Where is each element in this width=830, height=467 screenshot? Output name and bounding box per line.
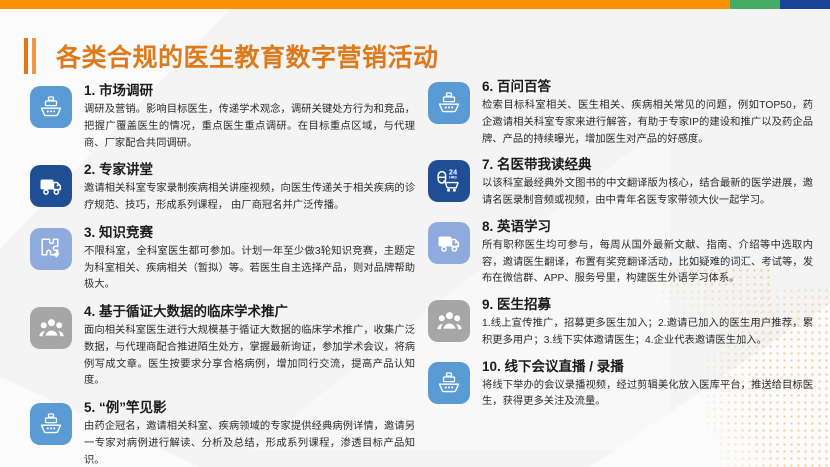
activity-item-title: 2. 专家讲堂 — [84, 161, 415, 179]
activity-item[interactable]: 2. 专家讲堂邀请相关科室专家录制疾病相关讲座视频，向医生传递关于相关疾病的诊疗… — [30, 161, 415, 215]
pharmacy-24hrs-icon: 24 HRS — [428, 160, 470, 202]
ship-icon-glyph — [38, 94, 64, 120]
title-accent-bar — [24, 38, 36, 74]
activity-item-body: 2. 专家讲堂邀请相关科室专家录制疾病相关讲座视频，向医生传递关于相关疾病的诊疗… — [84, 161, 415, 215]
activity-item-body: 3. 知识竞赛不限科室，全科室医生都可参加。计划一年至少做3轮知识竞赛，主题定为… — [84, 224, 415, 294]
activity-item-description: 调研及营销。影响目标医生，传递学术观念，调研关键处方行为和竞品，把握广覆盖医生的… — [84, 102, 415, 152]
activity-item-title: 6. 百问百答 — [482, 78, 813, 96]
top-color-bar — [0, 0, 830, 9]
activity-item-description: 检索目标科室相关、医生相关、疾病相关常见的问题，例如TOP50，药企邀请相关科室… — [482, 98, 813, 148]
activity-item[interactable]: 6. 百问百答检索目标科室相关、医生相关、疾病相关常见的问题，例如TOP50，药… — [428, 78, 813, 148]
ship-icon-glyph — [436, 90, 462, 116]
activity-item-title: 1. 市场调研 — [84, 82, 415, 100]
activity-item-description: 以该科室最经典外文图书的中文翻译版为核心，结合最新的医学进展，邀请名医录制音频或… — [482, 176, 813, 209]
activity-item[interactable]: 9. 医生招募1.线上宣传推广，招募更多医生加入；2.邀请已加入的医生用户推荐，… — [428, 296, 813, 350]
activity-item-title: 7. 名医带我读经典 — [482, 156, 813, 174]
activity-item-description: 所有职称医生均可参与，每周从国外最新文献、指南、介绍等中选取内容，邀请医生翻译，… — [482, 238, 813, 288]
activity-item-body: 1. 市场调研调研及营销。影响目标医生，传递学术观念，调研关键处方行为和竞品，把… — [84, 82, 415, 152]
activity-item[interactable]: 5. “例”竿见影由药企冠名，邀请相关科室、疾病领域的专家提供经典病例详情，邀请… — [30, 399, 415, 467]
activity-item-title: 4. 基于循证大数据的临床学术推广 — [84, 303, 415, 321]
slide-canvas: 各类合规的医生教育数字营销活动 1. 市场调研调研及营销。影响目标医生，传递学术… — [0, 0, 830, 467]
puzzle-icon — [30, 228, 72, 270]
ship-icon — [30, 86, 72, 128]
people-group-icon — [30, 307, 72, 349]
activity-item-description: 邀请相关科室专家录制疾病相关讲座视频，向医生传递关于相关疾病的诊疗规范、技巧，形… — [84, 181, 415, 214]
topbar-green-segment — [730, 0, 780, 9]
page-header: 各类合规的医生教育数字营销活动 — [24, 38, 439, 74]
truck-icon-glyph — [436, 230, 462, 256]
truck-icon — [30, 165, 72, 207]
activity-item[interactable]: 4. 基于循证大数据的临床学术推广面向相关科室医生进行大规模基于循证大数据的临床… — [30, 303, 415, 390]
activity-item-body: 7. 名医带我读经典以该科室最经典外文图书的中文翻译版为核心，结合最新的医学进展… — [482, 156, 813, 210]
svg-text:HRS: HRS — [449, 176, 457, 180]
people-group-icon-glyph — [38, 315, 65, 342]
ship-icon-glyph — [38, 411, 64, 437]
activity-item-description: 由药企冠名，邀请相关科室、疾病领域的专家提供经典病例详情，邀请另一专家对病例进行… — [84, 419, 415, 467]
topbar-orange-segment — [0, 0, 730, 9]
activity-item-title: 10. 线下会议直播 / 录播 — [482, 358, 813, 376]
people-group-icon-glyph — [436, 308, 463, 335]
activity-item-description: 面向相关科室医生进行大规模基于循证大数据的临床学术推广，收集广泛数据，与代理商配… — [84, 323, 415, 390]
activity-item-description: 1.线上宣传推广，招募更多医生加入；2.邀请已加入的医生用户推荐，累积更多用户；… — [482, 316, 813, 349]
activity-item[interactable]: 3. 知识竞赛不限科室，全科室医生都可参加。计划一年至少做3轮知识竞赛，主题定为… — [30, 224, 415, 294]
activity-item-body: 5. “例”竿见影由药企冠名，邀请相关科室、疾病领域的专家提供经典病例详情，邀请… — [84, 399, 415, 467]
ship-icon-glyph — [436, 370, 462, 396]
right-column: 6. 百问百答检索目标科室相关、医生相关、疾病相关常见的问题，例如TOP50，药… — [428, 78, 813, 419]
left-column: 1. 市场调研调研及营销。影响目标医生，传递学术观念，调研关键处方行为和竞品，把… — [30, 82, 415, 467]
activity-item-body: 10. 线下会议直播 / 录播将线下举办的会议录播视频，经过剪辑美化放入医库平台… — [482, 358, 813, 412]
activity-item-title: 9. 医生招募 — [482, 296, 813, 314]
puzzle-icon-glyph — [38, 235, 65, 262]
pharmacy-24hrs-icon-glyph: 24 HRS — [434, 166, 464, 196]
activity-item[interactable]: 8. 英语学习所有职称医生均可参与，每周从国外最新文献、指南、介绍等中选取内容，… — [428, 218, 813, 288]
title-accent-bar-inner — [28, 38, 32, 74]
topbar-blue-segment — [780, 0, 830, 9]
ship-icon — [30, 403, 72, 445]
activity-item-body: 6. 百问百答检索目标科室相关、医生相关、疾病相关常见的问题，例如TOP50，药… — [482, 78, 813, 148]
page-title: 各类合规的医生教育数字营销活动 — [56, 38, 439, 74]
activity-item-description: 将线下举办的会议录播视频，经过剪辑美化放入医库平台，推送给目标医生，获得更多关注… — [482, 378, 813, 411]
truck-icon — [428, 222, 470, 264]
activity-item-body: 8. 英语学习所有职称医生均可参与，每周从国外最新文献、指南、介绍等中选取内容，… — [482, 218, 813, 288]
activity-item[interactable]: 24 HRS 7. 名医带我读经典以该科室最经典外文图书的中文翻译版为核心，结合… — [428, 156, 813, 210]
activity-item-title: 3. 知识竞赛 — [84, 224, 415, 242]
activity-item-description: 不限科室，全科室医生都可参加。计划一年至少做3轮知识竞赛，主题定为科室相关、疾病… — [84, 244, 415, 294]
truck-icon-glyph — [38, 173, 64, 199]
activity-item[interactable]: 1. 市场调研调研及营销。影响目标医生，传递学术观念，调研关键处方行为和竞品，把… — [30, 82, 415, 152]
people-group-icon — [428, 300, 470, 342]
activity-item[interactable]: 10. 线下会议直播 / 录播将线下举办的会议录播视频，经过剪辑美化放入医库平台… — [428, 358, 813, 412]
ship-icon — [428, 82, 470, 124]
activity-item-title: 8. 英语学习 — [482, 218, 813, 236]
activity-item-body: 4. 基于循证大数据的临床学术推广面向相关科室医生进行大规模基于循证大数据的临床… — [84, 303, 415, 390]
ship-icon — [428, 362, 470, 404]
activity-item-body: 9. 医生招募1.线上宣传推广，招募更多医生加入；2.邀请已加入的医生用户推荐，… — [482, 296, 813, 350]
activity-item-title: 5. “例”竿见影 — [84, 399, 415, 417]
